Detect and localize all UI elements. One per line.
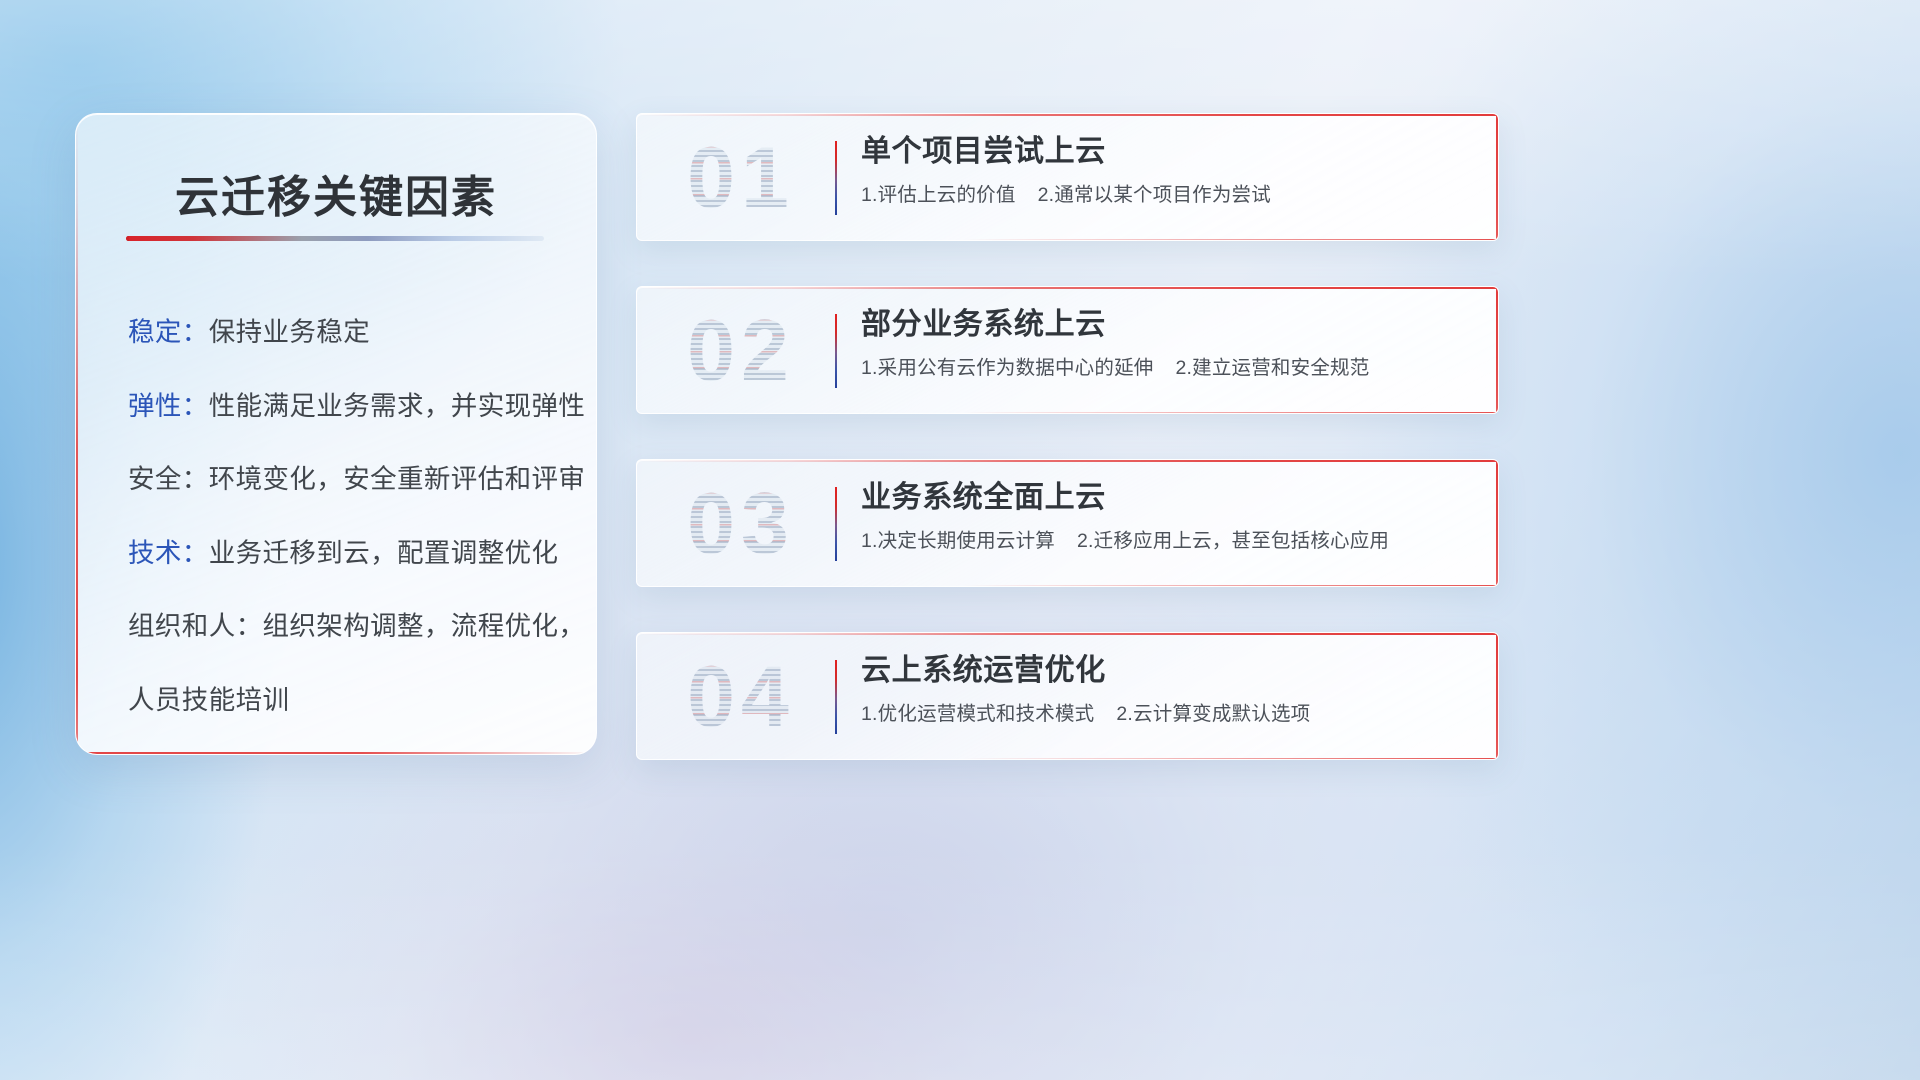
- stage-text-block: 云上系统运营优化 1.优化运营模式和技术模式2.云计算变成默认选项: [861, 653, 1474, 727]
- card-top-accent-line: [637, 460, 1498, 462]
- card-bottom-accent-line: [964, 412, 1498, 413]
- stage-title: 部分业务系统上云: [861, 307, 1474, 342]
- stage-description: 1.优化运营模式和技术模式2.云计算变成默认选项: [861, 702, 1474, 726]
- card-right-accent-line: [1496, 460, 1498, 586]
- list-item-key: 安全：: [128, 464, 209, 494]
- stage-description: 1.决定长期使用云计算2.迁移应用上云，甚至包括核心应用: [861, 529, 1474, 553]
- list-item-text: 人员技能培训: [128, 685, 289, 715]
- list-item: 组织和人：组织架构调整，流程优化，: [128, 613, 570, 640]
- stage-point-1: 1.决定长期使用云计算: [861, 530, 1055, 552]
- card-top-accent-line: [637, 114, 1498, 116]
- stage-point-1: 1.评估上云的价值: [861, 184, 1016, 206]
- card-right-accent-line: [1496, 633, 1498, 759]
- stage-point-2: 2.迁移应用上云，甚至包括核心应用: [1077, 530, 1389, 552]
- list-item: 人员技能培训: [128, 687, 570, 714]
- stage-text-block: 业务系统全面上云 1.决定长期使用云计算2.迁移应用上云，甚至包括核心应用: [861, 480, 1474, 554]
- card-bottom-accent-line: [964, 758, 1498, 759]
- card-right-accent-line: [1496, 114, 1498, 240]
- list-item-key: 技术：: [128, 538, 209, 568]
- list-item-key: 稳定：: [128, 317, 209, 347]
- list-item-text: 环境变化，安全重新评估和评审: [209, 464, 586, 494]
- list-item-text: 保持业务稳定: [209, 317, 370, 347]
- panel-bottom-accent-line: [76, 752, 596, 754]
- stage-divider-bar: [835, 487, 837, 561]
- list-item-text: 组织架构调整，流程优化，: [263, 611, 586, 641]
- stage-text-block: 部分业务系统上云 1.采用公有云作为数据中心的延伸2.建立运营和安全规范: [861, 307, 1474, 381]
- stage-point-2: 2.建立运营和安全规范: [1175, 357, 1369, 379]
- list-item: 技术：业务迁移到云，配置调整优化: [128, 540, 570, 567]
- stage-title: 单个项目尝试上云: [861, 134, 1474, 169]
- stage-card[interactable]: 04 04 04 云上系统运营优化 1.优化运营模式和技术模式2.云计算变成默认…: [636, 632, 1499, 760]
- card-bottom-accent-line: [964, 239, 1498, 240]
- card-top-accent-line: [637, 287, 1498, 289]
- stage-number: 02: [665, 303, 817, 399]
- stage-number: 03: [665, 476, 817, 572]
- stage-description: 1.评估上云的价值2.通常以某个项目作为尝试: [861, 183, 1474, 207]
- card-right-accent-line: [1496, 287, 1498, 413]
- list-item-text: 业务迁移到云，配置调整优化: [209, 538, 559, 568]
- stage-point-2: 2.通常以某个项目作为尝试: [1038, 184, 1271, 206]
- stage-divider-bar: [835, 141, 837, 215]
- stage-title: 云上系统运营优化: [861, 653, 1474, 688]
- list-item-key: 组织和人：: [128, 611, 263, 641]
- key-factors-list: 稳定：保持业务稳定 弹性：性能满足业务需求，并实现弹性 安全：环境变化，安全重新…: [128, 319, 570, 713]
- list-item-text: 性能满足业务需求，并实现弹性: [209, 391, 586, 421]
- stage-number: 04: [665, 649, 817, 745]
- migration-stages-list: 01 01 01 单个项目尝试上云 1.评估上云的价值2.通常以某个项目作为尝试…: [636, 113, 1499, 760]
- stage-description: 1.采用公有云作为数据中心的延伸2.建立运营和安全规范: [861, 356, 1474, 380]
- stage-point-2: 2.云计算变成默认选项: [1116, 703, 1310, 725]
- stage-card[interactable]: 01 01 01 单个项目尝试上云 1.评估上云的价值2.通常以某个项目作为尝试: [636, 113, 1499, 241]
- list-item: 稳定：保持业务稳定: [128, 319, 570, 346]
- stage-text-block: 单个项目尝试上云 1.评估上云的价值2.通常以某个项目作为尝试: [861, 134, 1474, 208]
- stage-card[interactable]: 03 03 03 业务系统全面上云 1.决定长期使用云计算2.迁移应用上云，甚至…: [636, 459, 1499, 587]
- card-top-accent-line: [637, 633, 1498, 635]
- stage-divider-bar: [835, 660, 837, 734]
- stage-title: 业务系统全面上云: [861, 480, 1474, 515]
- title-underline-rule: [126, 236, 544, 241]
- list-item-key: 弹性：: [128, 391, 209, 421]
- key-factors-panel: 云迁移关键因素 稳定：保持业务稳定 弹性：性能满足业务需求，并实现弹性 安全：环…: [75, 113, 597, 755]
- list-item: 弹性：性能满足业务需求，并实现弹性: [128, 393, 570, 420]
- stage-number: 01: [665, 130, 817, 226]
- panel-title: 云迁移关键因素: [76, 161, 596, 225]
- list-item: 安全：环境变化，安全重新评估和评审: [128, 466, 570, 493]
- stage-point-1: 1.采用公有云作为数据中心的延伸: [861, 357, 1153, 379]
- stage-point-1: 1.优化运营模式和技术模式: [861, 703, 1094, 725]
- stage-card[interactable]: 02 02 02 部分业务系统上云 1.采用公有云作为数据中心的延伸2.建立运营…: [636, 286, 1499, 414]
- card-bottom-accent-line: [964, 585, 1498, 586]
- stage-divider-bar: [835, 314, 837, 388]
